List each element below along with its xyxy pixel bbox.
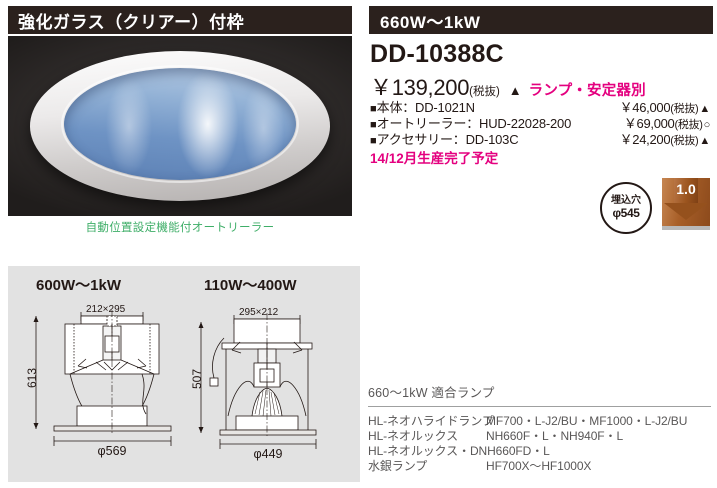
spec-mark-icon: ▲	[699, 135, 710, 147]
lamp-section-heading: 660〜1kW 適合ランプ	[368, 382, 713, 401]
spec-label: アクセサリー：DD-103C	[377, 132, 519, 147]
lamp-name: 水銀ランプ	[368, 459, 486, 474]
lamp-models: HF700X〜HF1000X	[486, 459, 713, 474]
depth-value: 1.0	[663, 181, 709, 197]
triangle-icon: ▲	[509, 83, 522, 98]
embedded-hole-badge: 埋込穴 φ545	[600, 182, 652, 234]
lamp-name: HL-ネオルックス	[368, 429, 486, 444]
lamp-section-divider	[368, 406, 711, 407]
bullet-square-icon: ■	[370, 135, 377, 147]
lamp-row: HL-ネオルックス NH660F・L・NH940F・L	[368, 429, 713, 444]
photo-caption: 自動位置設定機能付オートリーラー	[8, 219, 352, 235]
depth-arrow-badge: 1.0	[662, 178, 710, 228]
discontinuation-note: 14/12月生産完了予定	[370, 147, 498, 167]
drawing-left-diameter-dim: φ569	[98, 444, 127, 458]
drawing-left-top-dim: 212×295	[86, 304, 126, 315]
drawing-left-height-dim: 613	[25, 368, 39, 388]
lamp-models: MF700・L-J2/BU・MF1000・L-J2/BU	[486, 414, 713, 429]
spec-amount-group: ￥24,200(税抜)▲	[620, 129, 710, 148]
lamp-name: HL-ネオルックス・DNH660FD・L	[368, 444, 550, 459]
down-arrow-icon: 1.0	[663, 178, 709, 226]
embedded-hole-diameter: φ545	[612, 207, 639, 221]
product-photo	[8, 36, 352, 216]
lamp-rows: HL-ネオハライドランプ MF700・L-J2/BU・MF1000・L-J2/B…	[368, 414, 713, 474]
lamp-row: 水銀ランプ HF700X〜HF1000X	[368, 459, 713, 474]
spec-line-body: ■本体：DD-1021N ￥46,000(税抜)▲	[370, 97, 710, 113]
model-code: DD-10388C	[370, 40, 504, 69]
lamp-models: NH660F・L・NH940F・L	[486, 429, 713, 444]
arrow-badge-base	[662, 226, 710, 230]
lamp-row: HL-ネオルックス・DNH660FD・L	[368, 444, 713, 459]
spec-amount: ￥24,200	[620, 132, 671, 147]
drawing-right-top-dim: 295×212	[239, 307, 279, 318]
wattage-banner: 660W〜1kW	[369, 6, 713, 34]
spec-line-accessory: ■アクセサリー：DD-103C ￥24,200(税抜)▲	[370, 129, 710, 145]
spec-tax-note: (税抜)	[670, 135, 698, 147]
feature-banner: 強化ガラス（クリアー）付枠	[8, 6, 352, 34]
drawing-right-height-dim: 507	[190, 369, 204, 389]
spec-line-autoreeler: ■オートリーラー：HUD-22028-200 ￥69,000(税抜)○	[370, 113, 710, 129]
lamp-name: HL-ネオハライドランプ	[368, 414, 486, 429]
lamp-models	[550, 444, 713, 459]
technical-drawing-panel: 600W〜1kW 110W〜400W	[8, 266, 360, 482]
arrow-head	[664, 203, 708, 220]
left-column: 強化ガラス（クリアー）付枠 自動位置設定機能付オートリーラー	[0, 0, 360, 250]
fixture-cone-lip	[61, 65, 299, 183]
drawing-right-diameter-dim: φ449	[254, 447, 283, 461]
lamp-row: HL-ネオハライドランプ MF700・L-J2/BU・MF1000・L-J2/B…	[368, 414, 713, 429]
compatible-lamp-section: 660〜1kW 適合ランプ HL-ネオハライドランプ MF700・L-J2/BU…	[368, 382, 713, 474]
